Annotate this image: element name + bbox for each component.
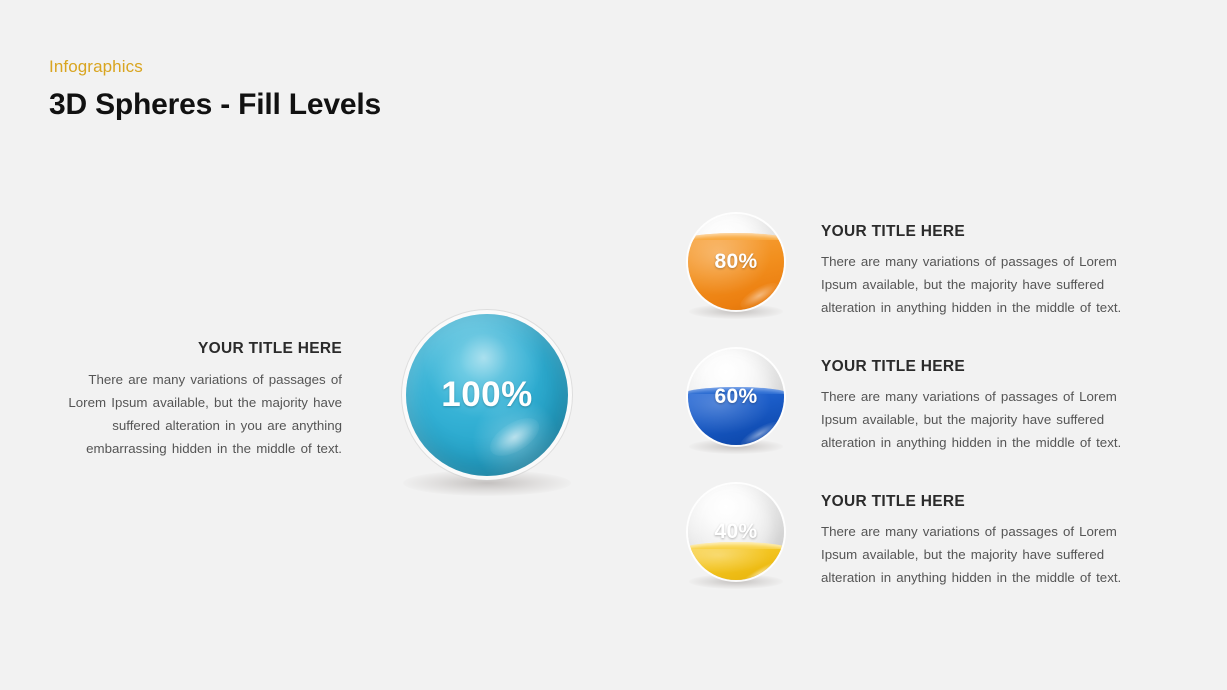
main-sphere-percent-label: 100% [406,314,568,476]
sphere-row-40: 40% YOUR TITLE HERE There are many varia… [688,484,1168,584]
fill-body [688,240,784,310]
mini-sphere-40[interactable]: 40% [688,484,784,580]
fill-level-yellow [688,542,784,580]
mini-sphere-80[interactable]: 80% [688,214,784,310]
slide-eyebrow-label: Infographics [49,57,143,77]
left-block-title: YOUR TITLE HERE [60,340,342,358]
mini-sphere-60[interactable]: 60% [688,349,784,445]
slide-canvas: Infographics 3D Spheres - Fill Levels YO… [0,0,1227,690]
row-block-body: There are many variations of passages of… [821,520,1157,589]
mini-sphere-body [688,214,784,310]
left-block-body: There are many variations of passages of… [60,368,342,460]
fill-level-blue [688,387,784,445]
row-block-body: There are many variations of passages of… [821,385,1157,454]
row-text-block: YOUR TITLE HERE There are many variation… [821,223,1157,319]
row-block-title: YOUR TITLE HERE [821,223,1157,241]
fill-level-orange [688,233,784,310]
row-text-block: YOUR TITLE HERE There are many variation… [821,493,1157,589]
sphere-row-60: 60% YOUR TITLE HERE There are many varia… [688,349,1168,449]
page-title: 3D Spheres - Fill Levels [49,88,381,122]
fill-body [688,394,784,445]
sphere-row-80: 80% YOUR TITLE HERE There are many varia… [688,214,1168,314]
row-text-block: YOUR TITLE HERE There are many variation… [821,358,1157,454]
mini-sphere-body [688,349,784,445]
row-block-body: There are many variations of passages of… [821,250,1157,319]
row-block-title: YOUR TITLE HERE [821,358,1157,376]
left-text-block: YOUR TITLE HERE There are many variation… [60,340,342,460]
main-sphere-100[interactable]: 100% [406,314,568,476]
mini-sphere-body [688,484,784,580]
row-block-title: YOUR TITLE HERE [821,493,1157,511]
